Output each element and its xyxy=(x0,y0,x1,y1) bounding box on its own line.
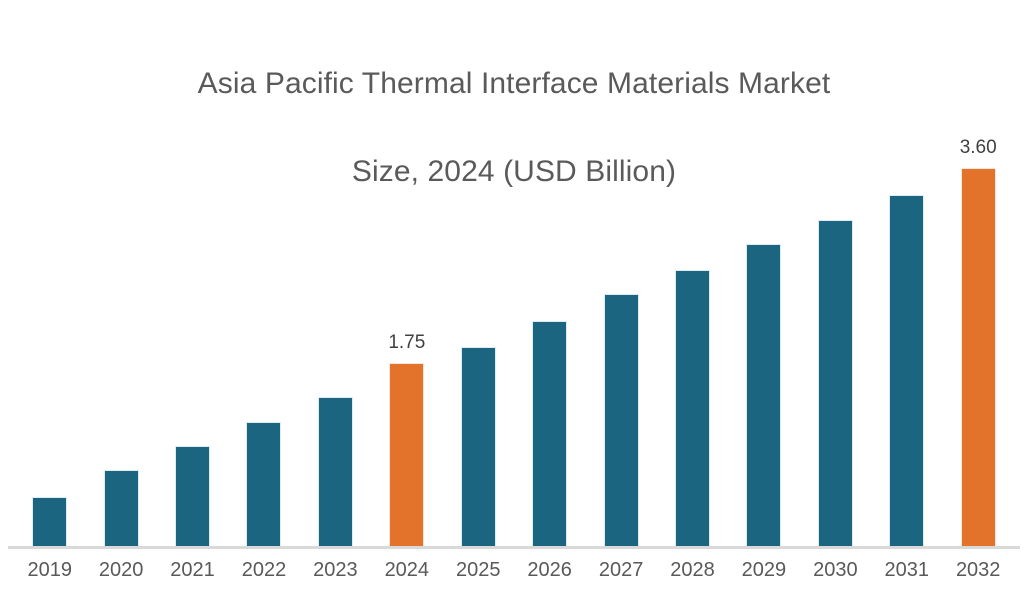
category-label-2028: 2028 xyxy=(657,558,728,588)
category-label-2027: 2027 xyxy=(585,558,656,588)
bar-slot xyxy=(228,120,299,548)
bar-value-label: 3.60 xyxy=(960,138,997,157)
bar-slot xyxy=(14,120,85,548)
category-label-2022: 2022 xyxy=(228,558,299,588)
bar-2032[interactable] xyxy=(962,169,995,548)
category-label-2032: 2032 xyxy=(942,558,1013,588)
category-label-2025: 2025 xyxy=(443,558,514,588)
category-label-2030: 2030 xyxy=(800,558,871,588)
bar-value-label: 1.75 xyxy=(388,333,425,352)
bar-slot xyxy=(585,120,656,548)
plot-area: 1.753.60 xyxy=(0,120,1028,548)
bar-slot xyxy=(85,120,156,548)
bar-chart: Asia Pacific Thermal Interface Materials… xyxy=(0,0,1028,600)
bar-2019[interactable] xyxy=(33,498,66,548)
bar-2027[interactable] xyxy=(605,295,638,548)
bar-2028[interactable] xyxy=(676,271,709,548)
category-axis-labels: 2019202020212022202320242025202620272028… xyxy=(0,558,1028,588)
bar-slot xyxy=(157,120,228,548)
category-axis-line xyxy=(8,546,1020,549)
bar-2020[interactable] xyxy=(105,471,138,548)
bar-slot xyxy=(800,120,871,548)
bar-2030[interactable] xyxy=(819,221,852,548)
category-label-2029: 2029 xyxy=(728,558,799,588)
category-label-2021: 2021 xyxy=(157,558,228,588)
category-label-2024: 2024 xyxy=(371,558,442,588)
chart-title-line-1: Asia Pacific Thermal Interface Materials… xyxy=(198,67,831,100)
bar-series: 1.753.60 xyxy=(0,120,1028,548)
bar-slot xyxy=(657,120,728,548)
bar-2031[interactable] xyxy=(890,196,923,548)
bar-slot: 1.75 xyxy=(371,120,442,548)
category-label-2020: 2020 xyxy=(85,558,156,588)
bar-slot xyxy=(514,120,585,548)
category-label-2031: 2031 xyxy=(871,558,942,588)
bar-2022[interactable] xyxy=(247,423,280,548)
bar-2029[interactable] xyxy=(747,245,780,548)
category-label-2019: 2019 xyxy=(14,558,85,588)
category-label-2023: 2023 xyxy=(300,558,371,588)
category-label-2026: 2026 xyxy=(514,558,585,588)
bar-2025[interactable] xyxy=(462,348,495,548)
bar-slot xyxy=(728,120,799,548)
bar-slot xyxy=(300,120,371,548)
bar-2021[interactable] xyxy=(176,447,209,548)
bar-slot: 3.60 xyxy=(942,120,1013,548)
bar-slot xyxy=(871,120,942,548)
bar-slot xyxy=(443,120,514,548)
bar-2024[interactable] xyxy=(390,364,423,548)
bar-2023[interactable] xyxy=(319,398,352,548)
bar-2026[interactable] xyxy=(533,322,566,548)
